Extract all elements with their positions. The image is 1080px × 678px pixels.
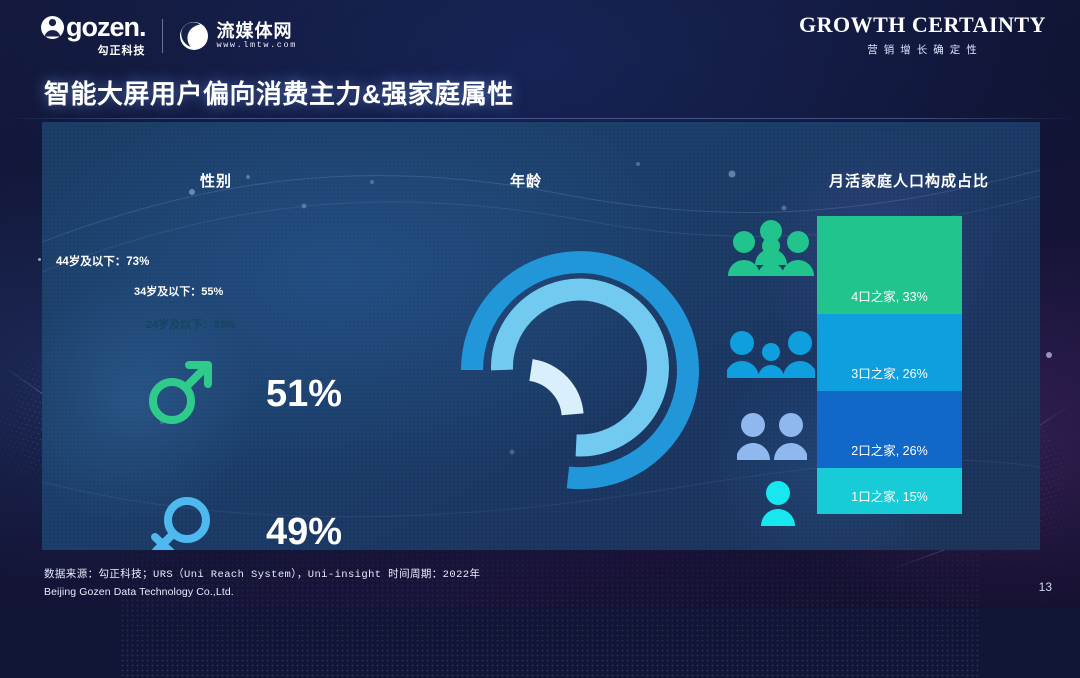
section-title-family: 月活家庭人口构成占比 bbox=[829, 170, 989, 191]
lmtw-text-block: 流媒体网 www.lmtw.com bbox=[217, 22, 297, 51]
age-ring-arc-24 bbox=[531, 370, 573, 414]
age-radial-gauge bbox=[440, 222, 750, 542]
footer-source-line: 数据来源：勾正科技；URS（Uni Reach System），Uni-insi… bbox=[44, 566, 480, 581]
logo-group: gozen. 勾正科技 流媒体网 www.lmtw.com bbox=[40, 14, 297, 58]
female-symbol-icon bbox=[142, 492, 218, 550]
sparkle-decoration bbox=[1046, 352, 1052, 358]
page-number: 13 bbox=[1039, 580, 1052, 594]
family-segment-label-4: 4口之家, 33% bbox=[851, 286, 927, 314]
family-segment-3: 3口之家, 26% bbox=[817, 314, 962, 391]
family-segment-label-1: 1口之家, 15% bbox=[851, 486, 927, 514]
age-label-34: 34岁及以下：55% bbox=[134, 283, 223, 299]
gozen-wordmark-text: gozen. bbox=[66, 14, 146, 41]
age-ring-arc-34 bbox=[502, 289, 658, 445]
footer: 数据来源：勾正科技；URS（Uni Reach System），Uni-insi… bbox=[44, 566, 480, 598]
page-title: 智能大屏用户偏向消费主力&强家庭属性 bbox=[44, 74, 514, 111]
male-symbol-icon bbox=[142, 354, 218, 435]
two-people-icon bbox=[737, 412, 807, 460]
lmtw-url: www.lmtw.com bbox=[217, 40, 297, 50]
gender-row-female: 49% bbox=[142, 492, 342, 550]
title-underline-rule bbox=[0, 118, 1080, 119]
logo-divider bbox=[162, 19, 163, 53]
age-label-44: 44岁及以下：73% bbox=[56, 253, 149, 269]
family-segment-4: 4口之家, 33% bbox=[817, 216, 962, 314]
content-panel: 性别 51% bbox=[42, 122, 1040, 550]
gozen-logo: gozen. 勾正科技 bbox=[40, 14, 146, 58]
gender-value-female: 49% bbox=[266, 511, 342, 550]
slide-background: gozen. 勾正科技 流媒体网 www.lmtw.com GR bbox=[0, 0, 1080, 608]
section-title-age: 年龄 bbox=[510, 170, 542, 191]
brand-slogan: GROWTH CERTAINTY 营销增长确定性 bbox=[799, 14, 1046, 57]
lmtw-logo: 流媒体网 www.lmtw.com bbox=[179, 21, 297, 51]
family-stacked-bar: 4口之家, 33% 3口之家, 26% 2口之家, 26% 1口之家, 15% bbox=[817, 216, 962, 514]
four-people-icon bbox=[727, 220, 815, 276]
brand-slogan-cn: 营销增长确定性 bbox=[799, 42, 1046, 57]
sparkle-decoration bbox=[38, 258, 41, 261]
family-segment-label-2: 2口之家, 26% bbox=[851, 440, 927, 468]
family-segment-1: 1口之家, 15% bbox=[817, 468, 962, 514]
lmtw-moon-icon bbox=[179, 21, 209, 51]
lmtw-chinese-name: 流媒体网 bbox=[217, 22, 297, 41]
gender-value-male: 51% bbox=[266, 373, 342, 416]
gender-row-male: 51% bbox=[142, 354, 342, 435]
three-people-icon bbox=[727, 330, 815, 378]
gozen-g-icon bbox=[40, 15, 65, 40]
brand-slogan-en: GROWTH CERTAINTY bbox=[799, 14, 1046, 36]
family-segment-2: 2口之家, 26% bbox=[817, 391, 962, 468]
section-title-gender: 性别 bbox=[200, 170, 232, 191]
footer-company-line: Beijing Gozen Data Technology Co.,Ltd. bbox=[44, 586, 480, 598]
age-label-24: 24岁及以下：33% bbox=[146, 316, 235, 332]
gozen-wordmark: gozen. bbox=[40, 14, 146, 41]
page-header: gozen. 勾正科技 流媒体网 www.lmtw.com GR bbox=[0, 0, 1080, 68]
one-person-icon bbox=[760, 480, 796, 526]
gozen-chinese-name: 勾正科技 bbox=[98, 42, 146, 58]
family-segment-label-3: 3口之家, 26% bbox=[851, 363, 927, 391]
